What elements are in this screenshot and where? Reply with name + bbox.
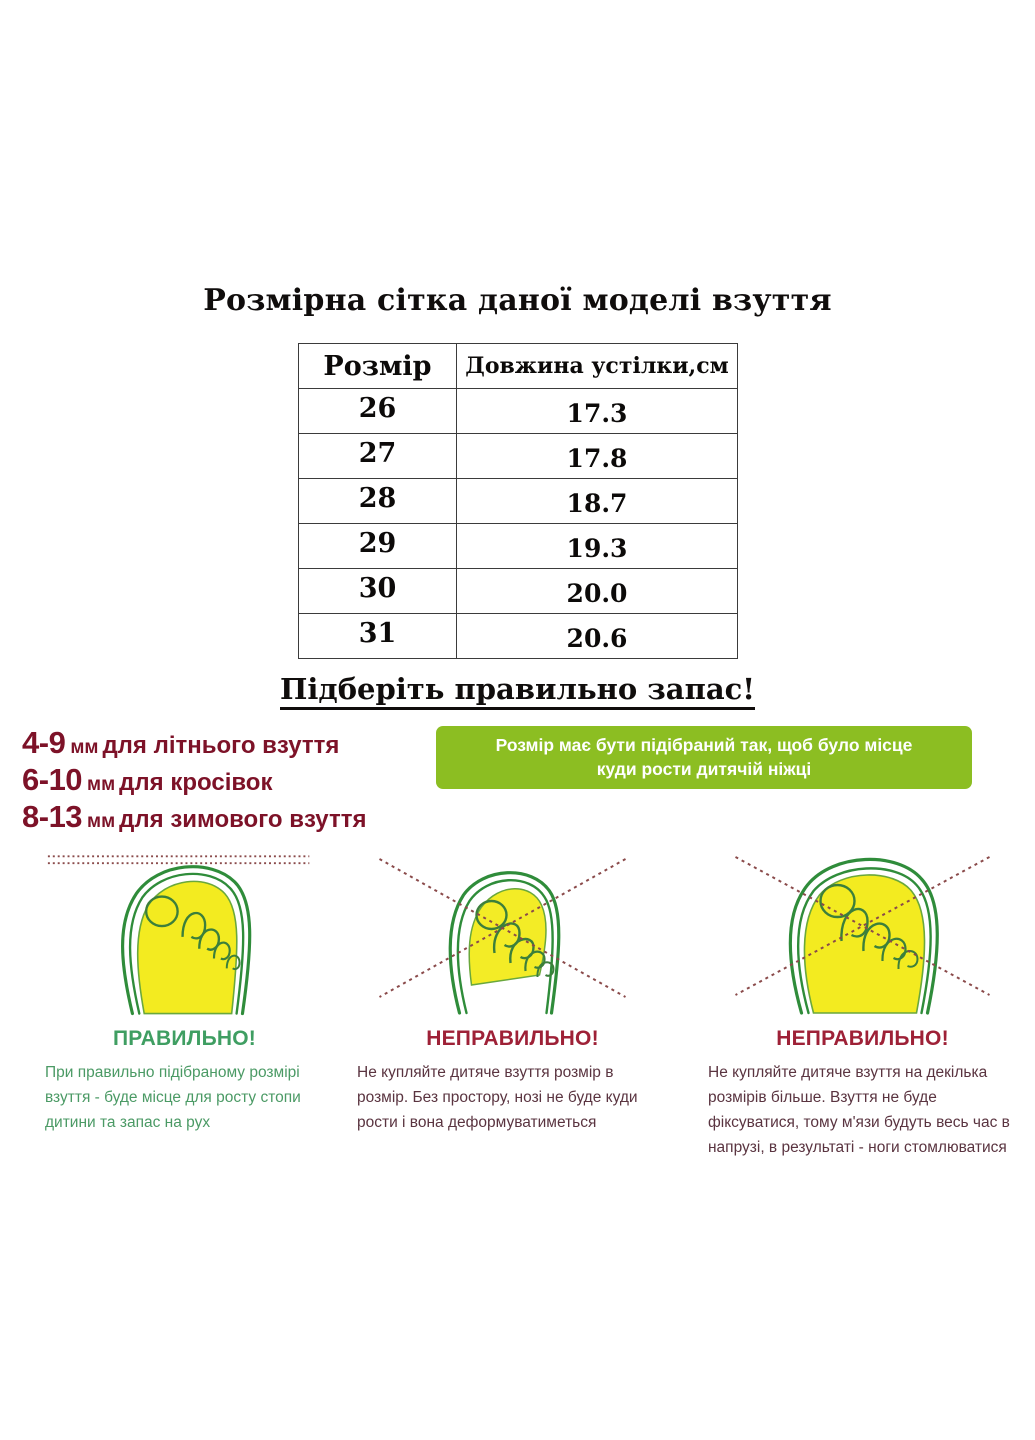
- size-chart-table: Розмір Довжина устілки,см 26 17.3 27 17.…: [298, 343, 738, 659]
- cell-size: 26: [299, 389, 457, 434]
- allowance-dotted-lines: [48, 856, 309, 863]
- allowance-list: 4-9ммдля літнього взуття 6-10ммдля кросі…: [22, 727, 452, 838]
- fit-example-body-too-small: Не купляйте дитяче взуття розмір в розмі…: [357, 1060, 668, 1135]
- allowance-range: 6-10: [22, 762, 82, 797]
- table-row: 28 18.7: [299, 479, 738, 524]
- pick-allowance-heading: Підберіть правильно запас!: [0, 672, 1035, 706]
- allowance-description: для літнього взуття: [98, 732, 339, 759]
- pick-allowance-heading-text: Підберіть правильно запас!: [280, 672, 755, 710]
- allowance-unit: мм: [82, 811, 115, 832]
- cell-length: 20.0: [457, 569, 738, 614]
- fit-example-title-correct: ПРАВИЛЬНО!: [42, 1027, 327, 1051]
- table-row: 26 17.3: [299, 389, 738, 434]
- foot-in-too-big-shoe-illustration: [704, 845, 1021, 1017]
- column-header-insole-length: Довжина устілки,см: [457, 344, 738, 389]
- table-header-row: Розмір Довжина устілки,см: [299, 344, 738, 389]
- column-header-size: Розмір: [299, 344, 457, 389]
- fit-example-body-correct: При правильно підібраному розмірі взуття…: [42, 1060, 327, 1135]
- allowance-description: для кросівок: [115, 769, 272, 796]
- fit-example-too-big: НЕПРАВИЛЬНО! Не купляйте дитяче взуття н…: [690, 845, 1035, 1160]
- table-row: 29 19.3: [299, 524, 738, 569]
- foot-in-too-small-shoe-illustration: [357, 845, 668, 1017]
- cell-length: 17.3: [457, 389, 738, 434]
- allowance-unit: мм: [65, 737, 98, 758]
- allowance-unit: мм: [82, 774, 115, 795]
- allowance-item-winter: 8-13ммдля зимового взуття: [22, 801, 452, 832]
- foot-shape: [138, 881, 240, 1013]
- cell-size: 29: [299, 524, 457, 569]
- fit-example-too-small: НЕПРАВИЛЬНО! Не купляйте дитяче взуття р…: [345, 845, 690, 1160]
- cell-size: 28: [299, 479, 457, 524]
- fit-example-correct: ПРАВИЛЬНО! При правильно підібраному роз…: [0, 845, 345, 1160]
- foot-shape: [804, 875, 924, 1013]
- fit-example-title-too-small: НЕПРАВИЛЬНО!: [357, 1027, 668, 1051]
- page-title: Розмірна сітка даної моделі взуття: [0, 283, 1035, 318]
- table-row: 31 20.6: [299, 614, 738, 659]
- fit-example-body-too-big: Не купляйте дитяче взуття на декілька ро…: [704, 1060, 1021, 1160]
- allowance-description: для зимового взуття: [115, 806, 366, 833]
- green-callout-box: Розмір має бути підібраний так, щоб було…: [436, 726, 972, 789]
- cell-length: 17.8: [457, 434, 738, 479]
- table-row: 27 17.8: [299, 434, 738, 479]
- fit-examples-row: ПРАВИЛЬНО! При правильно підібраному роз…: [0, 845, 1035, 1160]
- allowance-range: 4-9: [22, 725, 65, 760]
- cell-length: 20.6: [457, 614, 738, 659]
- allowance-range: 8-13: [22, 799, 82, 834]
- cell-size: 30: [299, 569, 457, 614]
- green-callout-line-1: Розмір має бути підібраний так, щоб було…: [496, 734, 913, 758]
- allowance-item-sneakers: 6-10ммдля кросівок: [22, 764, 452, 795]
- fit-example-title-too-big: НЕПРАВИЛЬНО!: [704, 1027, 1021, 1051]
- allowance-item-summer: 4-9ммдля літнього взуття: [22, 727, 452, 758]
- cell-size: 27: [299, 434, 457, 479]
- cell-length: 18.7: [457, 479, 738, 524]
- green-callout-line-2: куди рости дитячій ніжці: [496, 758, 913, 782]
- table-row: 30 20.0: [299, 569, 738, 614]
- cell-length: 19.3: [457, 524, 738, 569]
- foot-in-correct-shoe-illustration: [42, 845, 327, 1017]
- green-callout-text: Розмір має бути підібраний так, щоб було…: [496, 734, 913, 781]
- foot-shape: [469, 889, 553, 985]
- cell-size: 31: [299, 614, 457, 659]
